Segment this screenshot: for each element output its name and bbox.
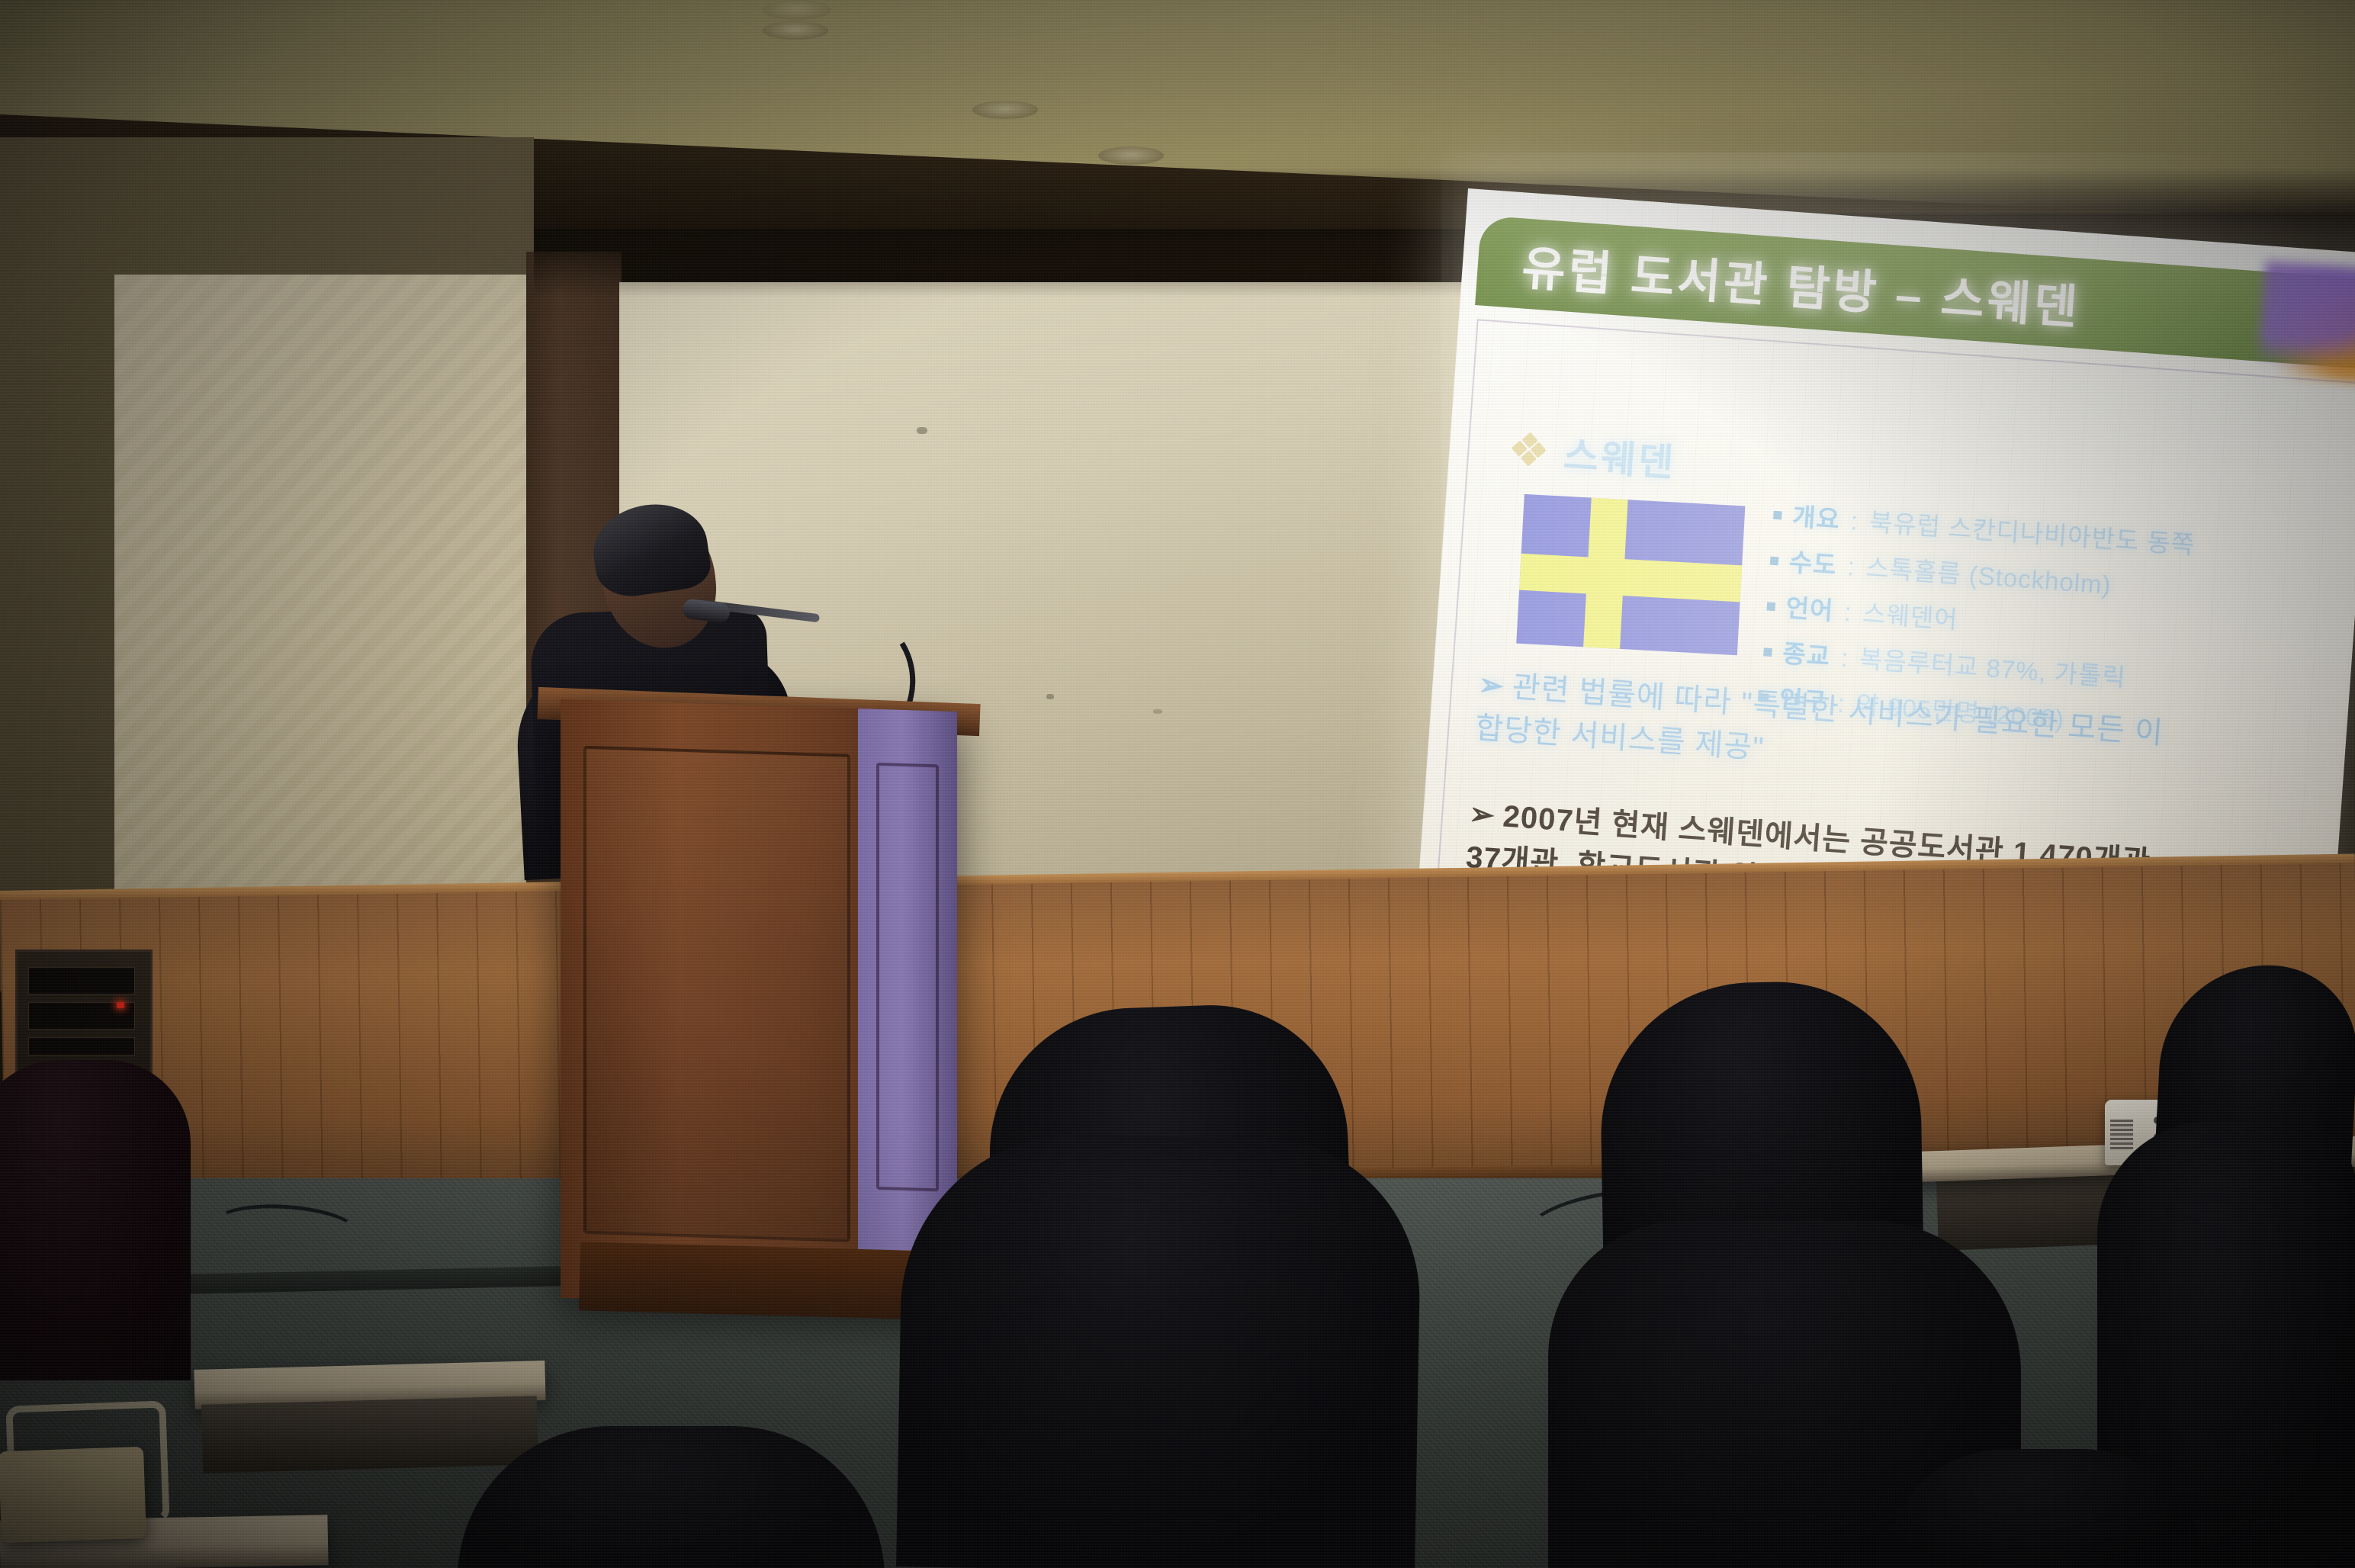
- av-rack-power-led-icon: [117, 1002, 124, 1008]
- fact-sep: :: [1846, 552, 1856, 582]
- audience-center-front: [896, 1132, 1422, 1568]
- arrow-bullet-icon: ➢: [1477, 668, 1506, 703]
- fact-sep: :: [1849, 506, 1859, 536]
- square-bullet-icon: [1763, 647, 1772, 657]
- fact-label: 종교: [1782, 633, 1832, 673]
- wooden-podium: [561, 699, 957, 1310]
- slide-heading-label: 스웨덴: [1562, 425, 1678, 487]
- square-bullet-icon: [1770, 557, 1779, 566]
- downlight-unlit-3-icon: [1098, 146, 1164, 165]
- fact-value: 스톡홀름 (Stockholm): [1865, 548, 2112, 602]
- fact-label: 언어: [1785, 587, 1835, 627]
- square-bullet-icon: [1766, 602, 1775, 611]
- fact-sep: :: [1843, 598, 1853, 628]
- sweden-flag-icon: [1516, 494, 1745, 655]
- downlight-unlit-4-icon: [763, 0, 831, 20]
- arrow-bullet-icon: ➢: [1468, 797, 1497, 832]
- square-bullet-icon: [1773, 511, 1782, 520]
- wall-cream-patterned-panel: [114, 275, 541, 961]
- slide-section-heading: 스웨덴: [1512, 421, 1678, 487]
- slide-title: 유럽 도서관 탐방 – 스웨덴: [1520, 229, 2083, 337]
- chair-left-seat: [0, 1447, 146, 1544]
- fact-label: 수도: [1788, 541, 1839, 581]
- fact-label: 개요: [1791, 496, 1842, 536]
- fact-sep: :: [1840, 644, 1850, 673]
- downlight-unlit-2-icon: [972, 101, 1038, 119]
- fact-value: 복음루터교 87%, 가톨릭: [1859, 638, 2128, 694]
- table-left-rear-apron: [201, 1396, 538, 1473]
- downlight-unlit-1-icon: [763, 21, 828, 40]
- diamond-cluster-bullet-icon: [1512, 433, 1545, 466]
- fact-value: 스웨덴어: [1862, 593, 1960, 636]
- lecture-hall-photo: 유럽 도서관 탐방 – 스웨덴 스웨덴 개요 : 북유럽 스칸디나비아반도 동쪽: [0, 0, 2355, 1568]
- podium-front-moulding: [583, 746, 850, 1242]
- slide-ribbon-decoration-icon: [2257, 261, 2355, 387]
- audience-left-maroon: [0, 1060, 191, 1380]
- podium-side-moulding: [876, 763, 939, 1192]
